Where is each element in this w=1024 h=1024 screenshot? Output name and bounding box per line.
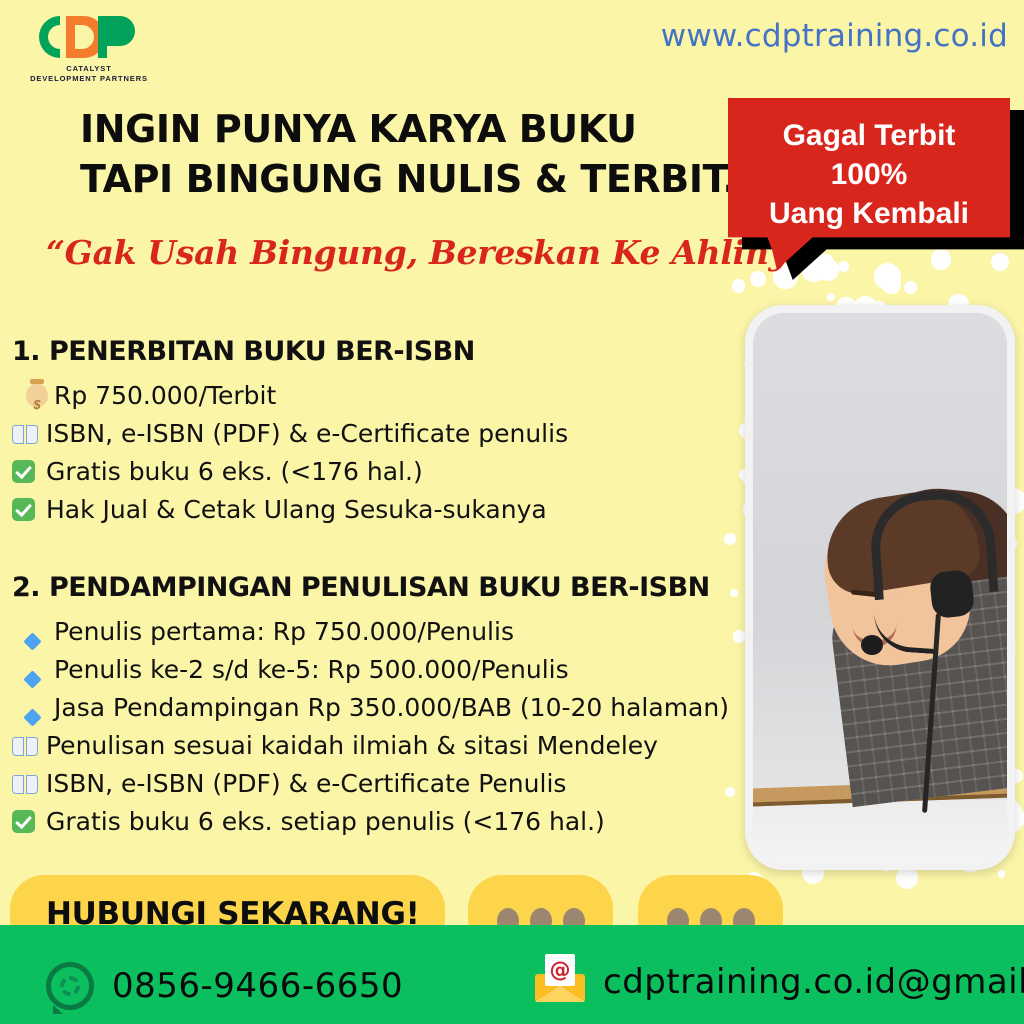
cdp-logo-icon [20, 8, 152, 66]
email-contact[interactable]: @ cdptraining.co.id@gmail.com [535, 962, 1024, 1002]
section-penerbitan: 1. PENERBITAN BUKU BER-ISBN Rp 750.000/T… [12, 336, 568, 529]
headline-line-1: INGIN PUNYA KARYA BUKU [80, 104, 740, 154]
decorative-dot [874, 263, 901, 290]
list-item: Penulis pertama: Rp 750.000/Penulis [12, 613, 729, 651]
badge-line-1: Gagal Terbit [783, 119, 956, 152]
list-item: Hak Jual & Cetak Ulang Sesuka-sukanya [12, 491, 568, 529]
desk-surface [753, 800, 1007, 862]
list-item-label: Hak Jual & Cetak Ulang Sesuka-sukanya [46, 491, 547, 529]
blue-diamond-icon [26, 689, 54, 727]
list-item: Gratis buku 6 eks. (<176 hal.) [12, 453, 568, 491]
section-1-title: 1. PENERBITAN BUKU BER-ISBN [12, 336, 568, 367]
check-mark-icon [12, 803, 46, 841]
logo-subtitle: CATALYST DEVELOPMENT PARTNERS [14, 64, 164, 83]
blue-diamond-icon [26, 651, 54, 689]
decorative-dot [750, 271, 766, 287]
list-item: Gratis buku 6 eks. setiap penulis (<176 … [12, 803, 729, 841]
decorative-dot [991, 253, 1010, 272]
list-item-label: Penulis ke-2 s/d ke-5: Rp 500.000/Penuli… [54, 651, 569, 689]
decorative-dot [733, 630, 746, 643]
list-item-label: Rp 750.000/Terbit [54, 377, 276, 415]
blue-diamond-icon [26, 613, 54, 651]
whatsapp-contact[interactable]: 0856-9466-6650 [46, 962, 403, 1010]
whatsapp-icon [46, 962, 94, 1010]
decorative-dot [730, 589, 738, 597]
decorative-dot [732, 279, 745, 292]
page-title: INGIN PUNYA KARYA BUKU TAPI BINGUNG NULI… [80, 104, 740, 204]
badge-line-2: 100% [831, 158, 908, 191]
website-url[interactable]: www.cdptraining.co.id [661, 18, 1008, 54]
decorative-dot [882, 274, 902, 294]
check-mark-icon [12, 491, 46, 529]
decorative-dot [998, 870, 1005, 877]
brand-logo: CATALYST DEVELOPMENT PARTNERS [14, 8, 164, 90]
open-book-icon [12, 765, 46, 803]
phone-mockup [745, 305, 1015, 870]
decorative-dot [838, 261, 849, 272]
headset-mic-icon [861, 635, 883, 655]
email-address: cdptraining.co.id@gmail.com [603, 962, 1024, 1002]
headset-earcup-icon [929, 569, 976, 619]
list-item-label: Gratis buku 6 eks. setiap penulis (<176 … [46, 803, 605, 841]
check-mark-icon [12, 453, 46, 491]
decorative-dot [827, 293, 835, 301]
open-book-icon [12, 727, 46, 765]
list-item: Penulis ke-2 s/d ke-5: Rp 500.000/Penuli… [12, 651, 729, 689]
customer-service-photo [753, 313, 1007, 862]
list-item-label: Penulisan sesuai kaidah ilmiah & sitasi … [46, 727, 658, 765]
list-item-label: ISBN, e-ISBN (PDF) & e-Certificate penul… [46, 415, 568, 453]
list-item: Jasa Pendampingan Rp 350.000/BAB (10-20 … [12, 689, 729, 727]
flyer-canvas: CATALYST DEVELOPMENT PARTNERS www.cdptra… [0, 0, 1024, 1024]
decorative-dot [896, 867, 918, 889]
phone-number: 0856-9466-6650 [112, 966, 403, 1006]
email-icon: @ [535, 962, 585, 1002]
list-item-label: Gratis buku 6 eks. (<176 hal.) [46, 453, 423, 491]
section-pendampingan: 2. PENDAMPINGAN PENULISAN BUKU BER-ISBN … [12, 572, 729, 841]
money-bag-icon [26, 377, 54, 415]
decorative-dot [931, 249, 952, 270]
badge-text: Gagal Terbit 100% Uang Kembali [728, 116, 1010, 233]
section-2-title: 2. PENDAMPINGAN PENULISAN BUKU BER-ISBN [12, 572, 729, 603]
list-item-label: ISBN, e-ISBN (PDF) & e-Certificate Penul… [46, 765, 566, 803]
decorative-dot [724, 533, 736, 545]
list-item: Rp 750.000/Terbit [12, 377, 568, 415]
list-item: ISBN, e-ISBN (PDF) & e-Certificate Penul… [12, 765, 729, 803]
list-item-label: Jasa Pendampingan Rp 350.000/BAB (10-20 … [54, 689, 729, 727]
tagline: “Gak Usah Bingung, Bereskan Ke Ahlinya” [46, 233, 827, 272]
list-item: ISBN, e-ISBN (PDF) & e-Certificate penul… [12, 415, 568, 453]
list-item-label: Penulis pertama: Rp 750.000/Penulis [54, 613, 514, 651]
list-item: Penulisan sesuai kaidah ilmiah & sitasi … [12, 727, 729, 765]
headline-line-2: TAPI BINGUNG NULIS & TERBIT...? [80, 154, 740, 204]
decorative-dot [904, 281, 917, 294]
badge-line-3: Uang Kembali [769, 197, 969, 230]
at-symbol: @ [545, 954, 575, 986]
